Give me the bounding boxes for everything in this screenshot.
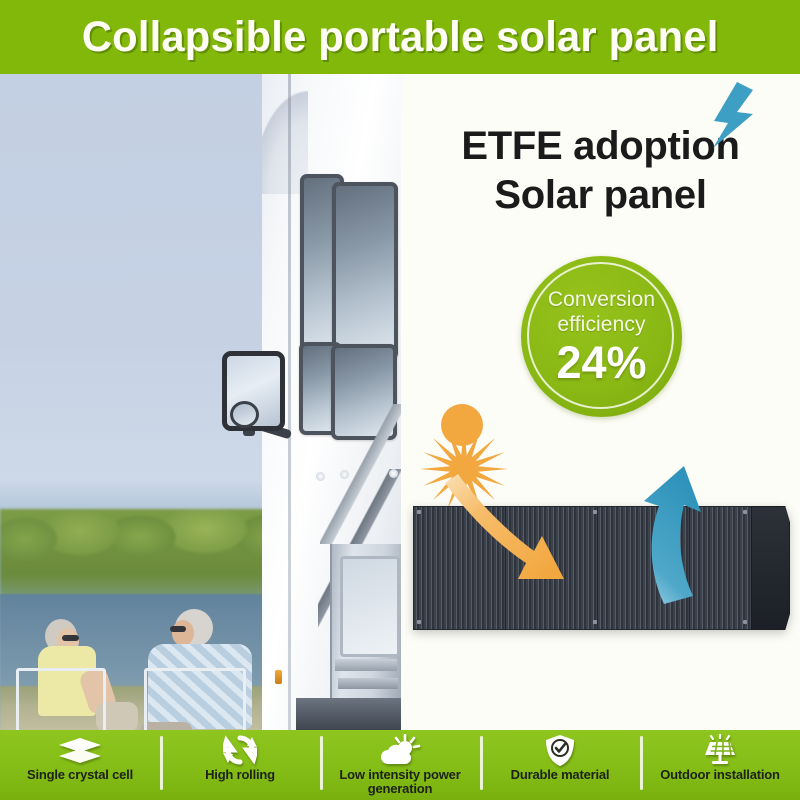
rv-window <box>332 182 398 360</box>
feature-item-high-rolling[interactable]: High rolling <box>160 730 320 800</box>
headline-line-2: Solar panel <box>401 171 800 220</box>
badge-caption-line-1: Conversion <box>548 287 655 312</box>
lawn-chair-frame <box>16 668 106 730</box>
panel-end-flap <box>751 506 790 630</box>
mirror-convex-spot <box>230 401 259 428</box>
folded-solar-panel <box>413 506 788 628</box>
recycle-icon <box>223 734 257 766</box>
panel-section <box>689 506 753 630</box>
rv-skirt <box>296 698 401 730</box>
feature-label: Single crystal cell <box>27 768 133 782</box>
rv-camping-photo <box>0 74 401 730</box>
rv-amber-light <box>275 670 282 684</box>
header-banner: Collapsible portable solar panel <box>0 0 800 75</box>
sunglasses-icon <box>170 626 186 632</box>
rv-marker-light <box>389 469 398 478</box>
panel-section <box>597 506 691 630</box>
feature-item-outdoor-installation[interactable]: Outdoor installation <box>640 730 800 800</box>
rv-body-edge <box>288 74 291 730</box>
sun-core <box>441 404 483 446</box>
page-title: Collapsible portable solar panel <box>82 13 719 62</box>
feature-label: Outdoor installation <box>660 768 780 782</box>
badge-value: 24% <box>556 339 646 386</box>
sunglasses-icon <box>62 635 79 641</box>
sun-cloud-icon <box>378 734 422 766</box>
layers-icon <box>57 734 103 766</box>
rv-door-window <box>340 556 400 657</box>
right-info-panel: ETFE adoption Solar panel Conversion eff… <box>401 74 800 730</box>
panel-section <box>413 506 507 630</box>
feature-label: High rolling <box>205 768 275 782</box>
conversion-efficiency-badge: Conversion efficiency 24% <box>521 256 682 417</box>
rv-step <box>338 678 398 689</box>
product-poster: Collapsible portable solar panel <box>0 0 800 800</box>
rv-marker-light <box>340 470 349 479</box>
lawn-chair-frame <box>144 668 246 730</box>
feature-item-single-crystal-cell[interactable]: Single crystal cell <box>0 730 160 800</box>
headline-line-1: ETFE adoption <box>461 124 739 168</box>
panel-section <box>505 506 599 630</box>
feature-item-low-intensity-power-generation[interactable]: Low intensity power generation <box>320 730 480 800</box>
rv-step <box>335 659 397 671</box>
rv-marker-light <box>316 472 325 481</box>
feature-item-durable-material[interactable]: Durable material <box>480 730 640 800</box>
product-headline: ETFE adoption Solar panel <box>401 122 800 220</box>
shield-check-icon <box>545 734 575 766</box>
feature-label: Durable material <box>511 768 610 782</box>
feature-label: Low intensity power generation <box>320 768 480 796</box>
badge-caption-line-2: efficiency <box>557 312 645 337</box>
feature-bar: Single crystal cell High rolling <box>0 730 800 800</box>
man-face <box>172 620 194 646</box>
sun-icon <box>414 377 510 473</box>
solar-panel-icon <box>698 734 742 766</box>
